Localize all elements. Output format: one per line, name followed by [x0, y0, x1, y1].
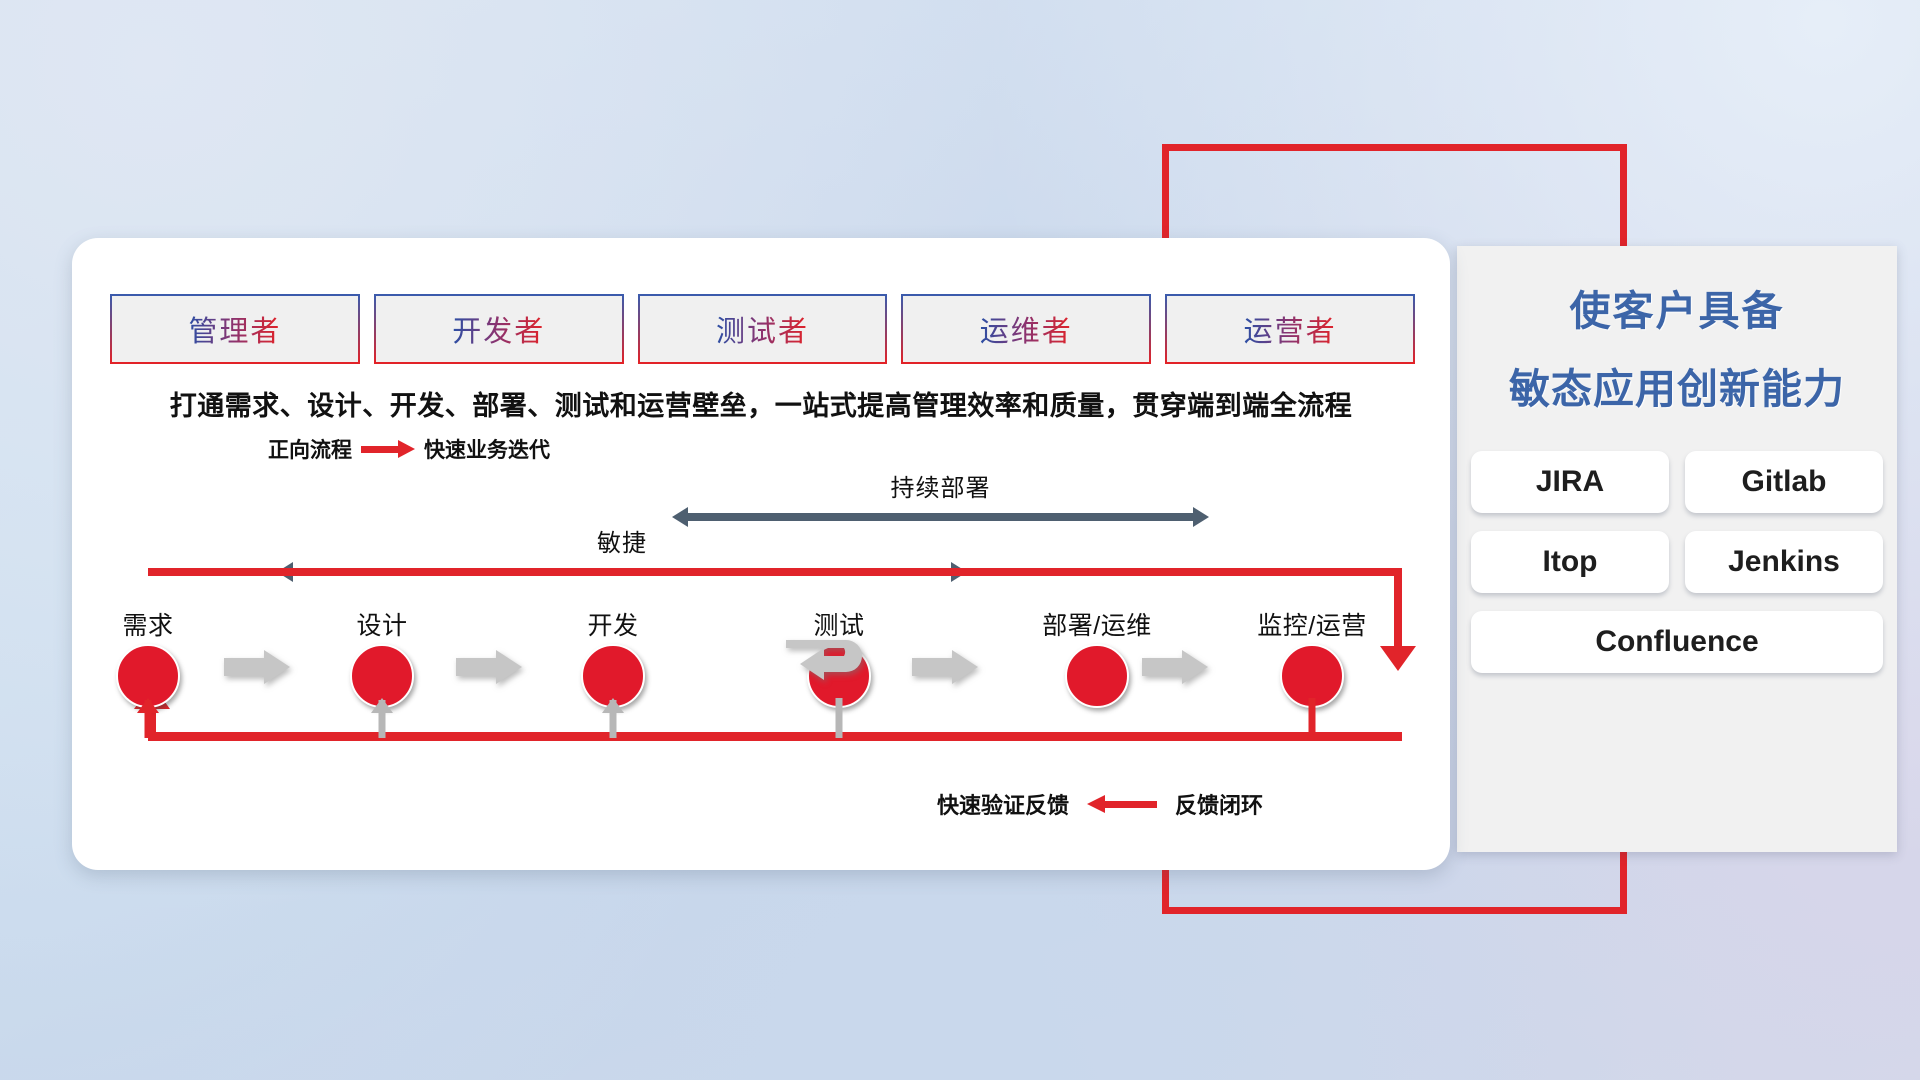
flow-arrow-icon-1: [224, 650, 290, 684]
arrow-up-stem-icon: [371, 698, 393, 713]
stage-stem-monitor-operate: [1309, 698, 1316, 738]
arrow-left-red-icon: [1087, 795, 1157, 813]
connector-top-segment: [1162, 144, 1627, 151]
arrow-right-red-icon: [361, 440, 415, 458]
feedback-left-label: 快速验证反馈: [937, 788, 1069, 820]
tool-chip-itop[interactable]: Itop: [1471, 531, 1669, 593]
tool-chip-jenkins[interactable]: Jenkins: [1685, 531, 1883, 593]
description-text: 打通需求、设计、开发、部署、测试和运营壁垒，一站式提高管理效率和质量，贯穿端到端…: [72, 384, 1450, 423]
pipeline-stage-development[interactable]: 开发: [548, 606, 678, 708]
feedback-loop-top: [148, 568, 1402, 576]
arrow-head-right-icon: [1193, 507, 1209, 527]
arrow-bar: [224, 658, 266, 676]
span-label-agile: 敏捷: [277, 523, 967, 558]
forward-flow-right-label: 快速业务迭代: [424, 434, 550, 464]
loop-back-arrow-icon: [784, 634, 876, 700]
forward-flow-left-label: 正向流程: [268, 434, 352, 464]
tool-chip-confluence[interactable]: Confluence: [1471, 611, 1883, 673]
stage-label-monitor-operate: 监控/运营: [1217, 606, 1407, 642]
tool-chip-gitlab[interactable]: Gitlab: [1685, 451, 1883, 513]
arrow-head-right-icon: [952, 650, 978, 684]
arrow-head-right-icon: [496, 650, 522, 684]
pipeline-stage-monitor-operate[interactable]: 监控/运营: [1217, 606, 1407, 708]
arrow-bar: [1142, 658, 1184, 676]
role-label-operator: 运营者: [1244, 308, 1337, 350]
pipeline-stage-requirement[interactable]: 需求: [83, 606, 213, 708]
role-label-ops: 运维者: [980, 308, 1073, 350]
role-box-ops[interactable]: 运维者: [901, 294, 1151, 364]
feedback-right-label: 反馈闭环: [1175, 788, 1263, 820]
role-box-developer[interactable]: 开发者: [374, 294, 624, 364]
panel-headline-line2: 敏态应用创新能力: [1467, 358, 1887, 422]
stage-label-design: 设计: [317, 606, 447, 642]
role-label-developer: 开发者: [452, 308, 545, 350]
arrow-bar: [687, 513, 1194, 521]
main-diagram-card: 管理者 开发者 测试者 运维者 运营者 打通需求、设计、开发、部署、测试和运营壁…: [72, 238, 1450, 870]
forward-flow-legend: 正向流程 快速业务迭代: [268, 434, 550, 464]
role-box-tester[interactable]: 测试者: [638, 294, 888, 364]
arrow-up-stem-icon: [602, 698, 624, 713]
role-box-manager[interactable]: 管理者: [110, 294, 360, 364]
arrow-head-right-icon: [264, 650, 290, 684]
stage-label-development: 开发: [548, 606, 678, 642]
stage-stem-testing: [836, 698, 843, 738]
flow-arrow-icon-2: [456, 650, 522, 684]
tool-chip-jira[interactable]: JIRA: [1471, 451, 1669, 513]
role-label-manager: 管理者: [188, 308, 281, 350]
stage-label-requirement: 需求: [83, 606, 213, 642]
flow-arrow-icon-4: [1142, 650, 1208, 684]
span-label-continuous-deployment: 持续部署: [672, 468, 1209, 503]
stage-label-deploy-ops: 部署/运维: [1002, 606, 1192, 642]
flow-arrow-icon-3: [912, 650, 978, 684]
connector-bottom-segment: [1162, 907, 1627, 914]
role-label-tester: 测试者: [716, 308, 809, 350]
feedback-legend: 快速验证反馈 反馈闭环: [937, 788, 1263, 820]
pipeline-stage-design[interactable]: 设计: [317, 606, 447, 708]
arrow-bar: [912, 658, 954, 676]
arrow-bar: [456, 658, 498, 676]
panel-headline-line1: 使客户具备: [1467, 280, 1887, 344]
value-proposition-panel: 使客户具备 敏态应用创新能力 JIRA Gitlab Itop Jenkins …: [1457, 246, 1897, 852]
arrow-up-stem-icon: [137, 698, 159, 713]
span-continuous-deployment: 持续部署: [672, 468, 1209, 527]
panel-headline: 使客户具备 敏态应用创新能力: [1457, 246, 1897, 421]
stage-dot-deploy-ops: [1065, 644, 1129, 708]
role-box-operator[interactable]: 运营者: [1165, 294, 1415, 364]
arrow-head-right-icon: [1182, 650, 1208, 684]
role-box-row: 管理者 开发者 测试者 运维者 运营者: [110, 294, 1415, 364]
tool-chip-grid: JIRA Gitlab Itop Jenkins Confluence: [1471, 451, 1883, 673]
